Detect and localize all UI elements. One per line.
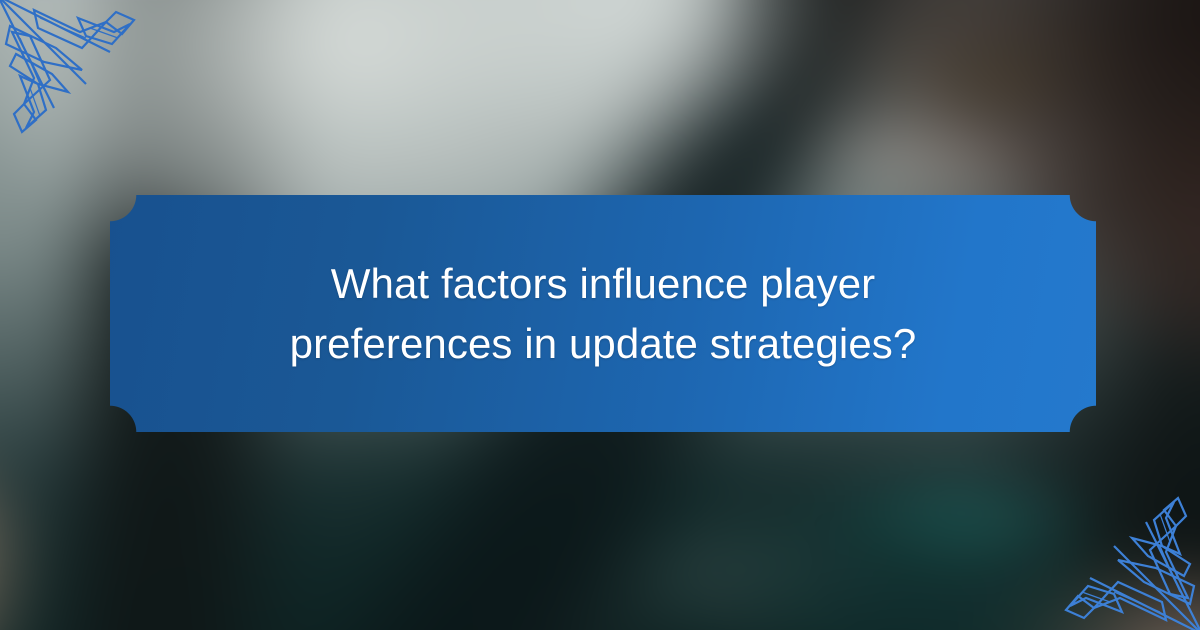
question-text: What factors influence player preference… — [253, 254, 953, 373]
question-banner: What factors influence player preference… — [110, 195, 1096, 432]
question-card: What factors influence player preference… — [0, 0, 1200, 630]
